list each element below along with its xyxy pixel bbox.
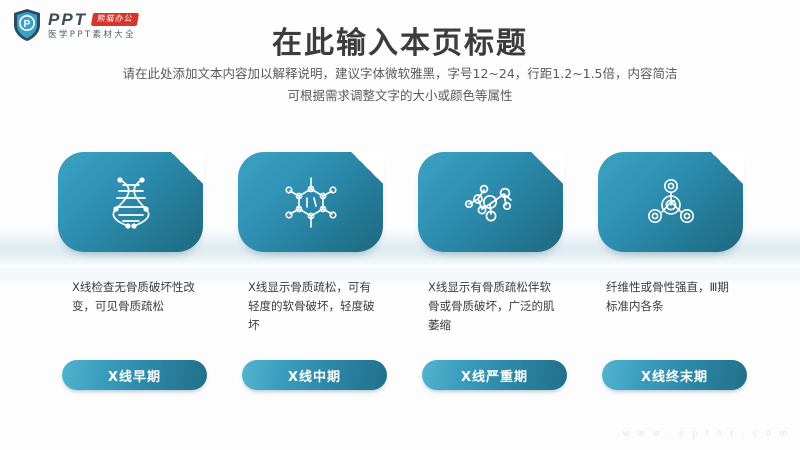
- benzene-ring-molecule-icon: [280, 171, 342, 233]
- subtitle-line-2: 可根据需求调整文字的大小或颜色等属性: [0, 85, 800, 107]
- column-description: X线显示有骨质疏松伴软骨或骨质破坏，广泛的肌萎缩: [418, 278, 560, 335]
- atom-cluster-icon: [640, 171, 702, 233]
- dna-helix-icon: [100, 171, 162, 233]
- stage-pill[interactable]: X线终末期: [602, 360, 747, 390]
- molecule-network-icon: [460, 171, 522, 233]
- stage-pill[interactable]: X线早期: [62, 360, 207, 390]
- stage-pill[interactable]: X线严重期: [422, 360, 567, 390]
- column-description: X线检查无骨质破坏性改变，可见骨质疏松: [58, 278, 204, 316]
- subtitle-line-1: 请在此处添加文本内容加以解释说明，建议字体微软雅黑，字号12~24，行距1.2~…: [0, 63, 800, 85]
- icon-card[interactable]: [58, 152, 203, 252]
- icon-card[interactable]: [598, 152, 743, 252]
- column-item: X线显示有骨质疏松伴软骨或骨质破坏，广泛的肌萎缩: [418, 152, 598, 335]
- column-item: X线检查无骨质破坏性改变，可见骨质疏松: [58, 152, 238, 316]
- page-title: 在此输入本页标题: [0, 18, 800, 62]
- stage-pill-group: X线早期 X线中期 X线严重期 X线终末期: [0, 360, 800, 392]
- slide-canvas: P PPT 熊猫办公 医学PPT素材大全 在此输入本页标题 请在此处添加文本内容…: [0, 0, 800, 450]
- icon-card[interactable]: [418, 152, 563, 252]
- stage-pill[interactable]: X线中期: [242, 360, 387, 390]
- column-description: 纤维性或骨性强直，Ⅲ期标准内各条: [598, 278, 738, 316]
- site-watermark: w w w . p p t e r . c o m: [623, 428, 790, 438]
- icon-card[interactable]: [238, 152, 383, 252]
- column-description: X线显示骨质疏松，可有轻度的软骨破坏，轻度破坏: [238, 278, 380, 335]
- column-item: 纤维性或骨性强直，Ⅲ期标准内各条: [598, 152, 778, 316]
- page-subtitle: 请在此处添加文本内容加以解释说明，建议字体微软雅黑，字号12~24，行距1.2~…: [0, 63, 800, 107]
- column-item: X线显示骨质疏松，可有轻度的软骨破坏，轻度破坏: [238, 152, 418, 335]
